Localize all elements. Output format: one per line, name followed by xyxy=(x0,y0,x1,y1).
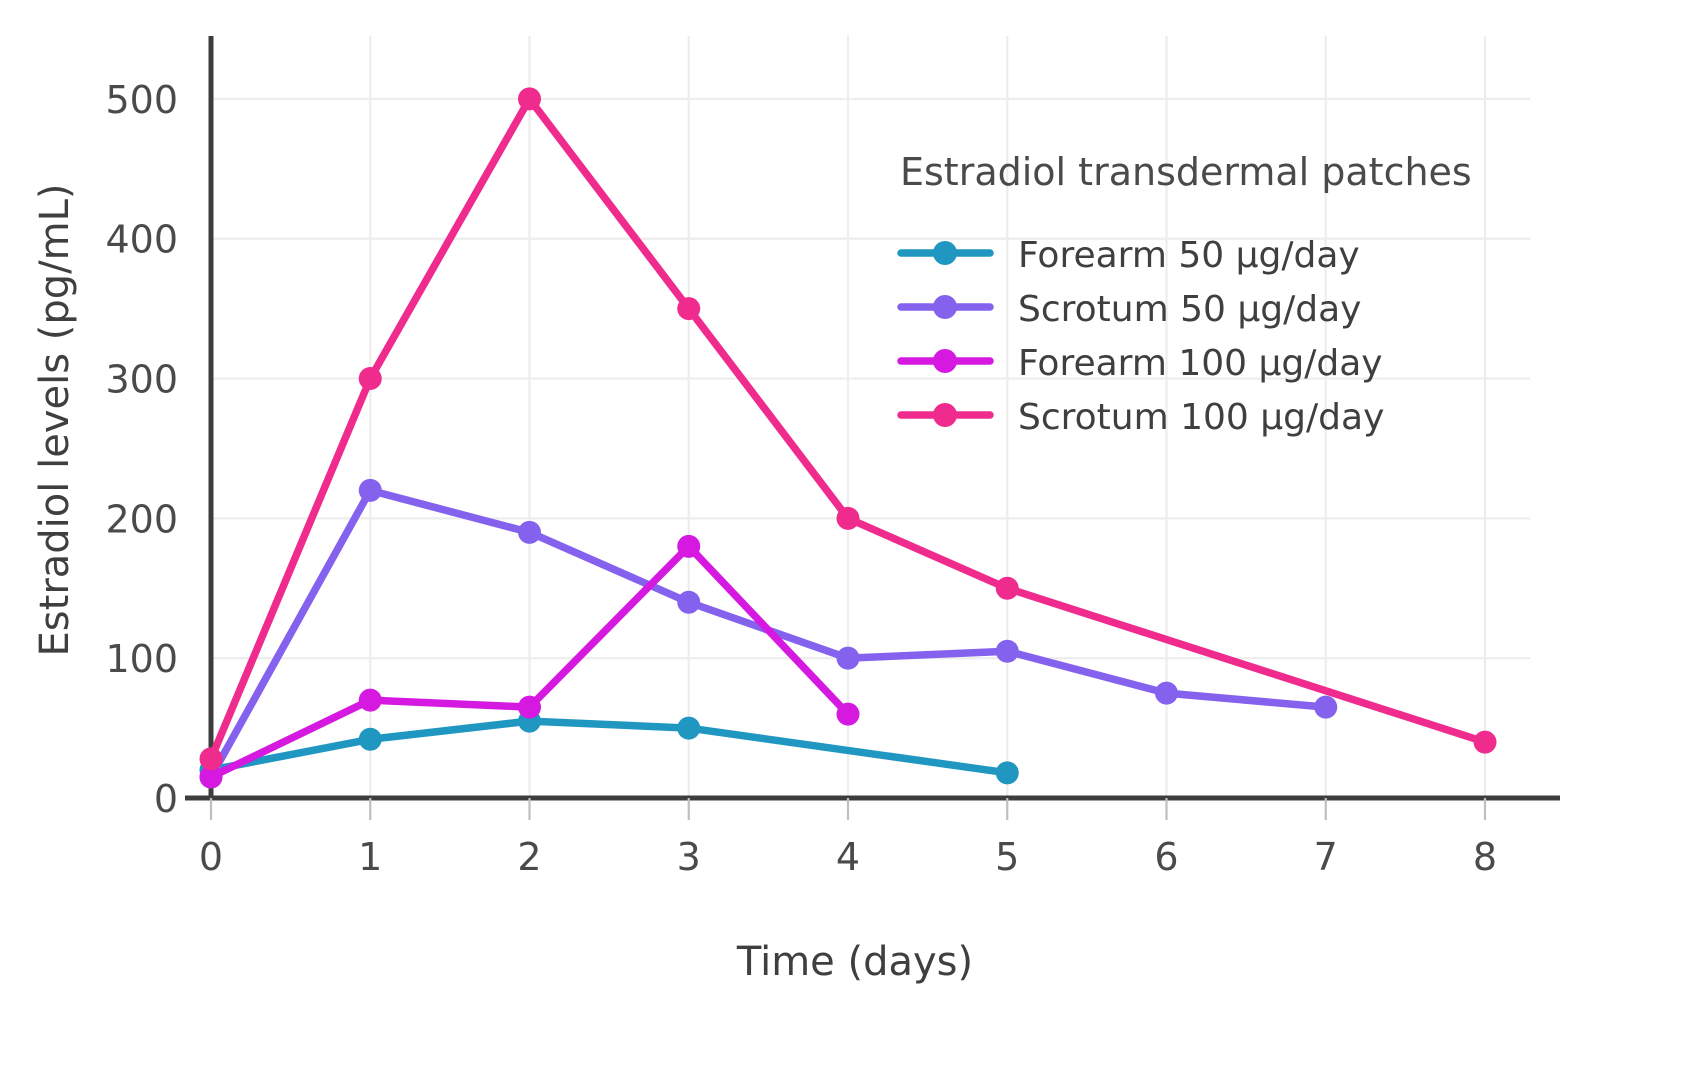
data-point-marker xyxy=(200,747,223,770)
legend-item-label: Forearm 50 µg/day xyxy=(1018,235,1360,276)
legend-marker-icon xyxy=(933,403,957,427)
y-tick-label: 500 xyxy=(105,78,178,122)
y-tick-label: 200 xyxy=(105,497,178,541)
data-point-marker xyxy=(518,696,541,719)
x-tick-label: 8 xyxy=(1473,835,1497,879)
data-point-marker xyxy=(996,640,1019,663)
data-point-marker xyxy=(837,703,860,726)
data-point-marker xyxy=(359,689,382,712)
data-point-marker xyxy=(837,647,860,670)
y-tick-label: 400 xyxy=(105,218,178,262)
data-point-marker xyxy=(359,367,382,390)
y-tick-label: 0 xyxy=(154,777,178,821)
series-line xyxy=(211,721,1007,773)
data-point-marker xyxy=(1314,696,1337,719)
legend-marker-icon xyxy=(933,349,957,373)
legend-item[interactable]: Forearm 50 µg/day xyxy=(901,235,1360,276)
legend-item-label: Forearm 100 µg/day xyxy=(1018,343,1383,384)
data-point-marker xyxy=(677,591,700,614)
legend: Estradiol transdermal patchesForearm 50 … xyxy=(900,150,1472,438)
data-point-marker xyxy=(359,728,382,751)
data-point-marker xyxy=(1474,731,1497,754)
data-point-marker xyxy=(837,507,860,530)
data-point-marker xyxy=(518,521,541,544)
legend-marker-icon xyxy=(933,241,957,265)
data-point-marker xyxy=(1155,682,1178,705)
data-point-marker xyxy=(677,535,700,558)
legend-title: Estradiol transdermal patches xyxy=(900,150,1472,194)
legend-marker-icon xyxy=(933,295,957,319)
y-tick-label: 100 xyxy=(105,637,178,681)
x-tick-labels: 012345678 xyxy=(199,798,1497,879)
x-tick-label: 1 xyxy=(358,835,382,879)
x-axis-title: Time (days) xyxy=(736,939,973,985)
legend-item-label: Scrotum 100 µg/day xyxy=(1018,397,1384,438)
data-point-marker xyxy=(996,577,1019,600)
x-tick-label: 0 xyxy=(199,835,223,879)
legend-item-label: Scrotum 50 µg/day xyxy=(1018,289,1361,330)
y-tick-label: 300 xyxy=(105,358,178,402)
x-tick-label: 3 xyxy=(677,835,701,879)
legend-item[interactable]: Scrotum 100 µg/day xyxy=(901,397,1384,438)
line-chart: 0100200300400500 012345678 Estradiol tra… xyxy=(0,0,1681,1090)
data-point-marker xyxy=(518,87,541,110)
x-tick-label: 7 xyxy=(1314,835,1338,879)
data-point-marker xyxy=(359,479,382,502)
y-axis-title: Estradiol levels (pg/mL) xyxy=(32,184,78,657)
data-point-marker xyxy=(677,297,700,320)
x-tick-label: 2 xyxy=(517,835,541,879)
y-tick-labels: 0100200300400500 xyxy=(105,78,178,821)
x-tick-label: 6 xyxy=(1154,835,1178,879)
legend-item[interactable]: Scrotum 50 µg/day xyxy=(901,289,1361,330)
x-tick-label: 5 xyxy=(995,835,1019,879)
data-point-marker xyxy=(677,717,700,740)
data-point-marker xyxy=(996,761,1019,784)
chart-container: 0100200300400500 012345678 Estradiol tra… xyxy=(0,0,1681,1090)
x-tick-label: 4 xyxy=(836,835,860,879)
